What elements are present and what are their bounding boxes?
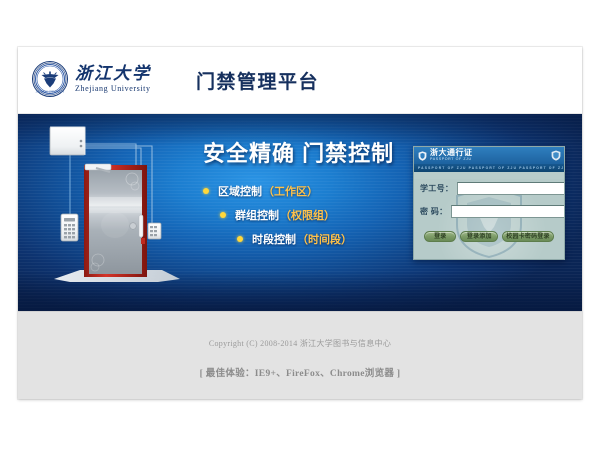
screenshot-canvas: ZHEJIANG UNIVERSITY 浙江大学 Zhejiang Univer… [0,0,600,450]
list-item: 区域控制 （工作区） [203,183,428,199]
form-row-username: 学工号： [414,179,564,197]
university-logo[interactable]: ZHEJIANG UNIVERSITY 浙江大学 Zhejiang Univer… [32,61,151,97]
list-item: 群组控制 （权限组） [203,207,428,223]
copyright-text: Copyright (C) 2008-2014 浙江大学图书与信息中心 [209,338,391,349]
hero-slogan: 安全精确 门禁控制 [203,136,428,168]
login-brand: 浙大通行证 PASSPORT OF ZJU [430,149,473,162]
login-button-group: 登录 登录添加 校园卡密码登录 [414,231,564,242]
hero-banner: 安全精确 门禁控制 区域控制 （工作区） 群组控制 （权限组） 时段控制 [18,114,582,311]
password-input[interactable] [451,205,565,218]
feature-label: 区域控制 [218,183,262,199]
bullet-dot-icon [220,212,226,218]
university-name-cn: 浙江大学 [75,65,151,82]
university-wordmark: 浙江大学 Zhejiang University [75,65,151,93]
username-label: 学工号： [420,183,453,194]
password-label: 密 码： [420,206,447,217]
access-control-door-illustration [40,122,195,304]
page-header: ZHEJIANG UNIVERSITY 浙江大学 Zhejiang Univer… [18,47,582,114]
hero-slogan-block: 安全精确 门禁控制 区域控制 （工作区） 群组控制 （权限组） 时段控制 [203,136,428,255]
university-name-en: Zhejiang University [75,85,151,93]
login-brand-cn: 浙大通行证 [430,149,473,157]
hero-feature-list: 区域控制 （工作区） 群组控制 （权限组） 时段控制 （时间段） [203,183,428,247]
login-add-button[interactable]: 登录添加 [460,231,498,242]
bullet-dot-icon [237,236,243,242]
shield-icon [418,151,427,161]
username-input[interactable] [457,182,565,195]
login-button[interactable]: 登录 [424,231,456,242]
campus-card-password-login-button[interactable]: 校园卡密码登录 [502,231,553,242]
site-window: ZHEJIANG UNIVERSITY 浙江大学 Zhejiang Univer… [18,47,582,399]
login-form: 学工号： 密 码： 登录 登录添加 校园卡密码登录 [414,179,564,260]
shield-badge-icon [551,150,561,161]
page-footer: Copyright (C) 2008-2014 浙江大学图书与信息中心 [ 最佳… [18,311,582,399]
feature-label: 时段控制 [252,231,296,247]
feature-paren: （时间段） [297,231,352,247]
svg-text:ZHEJIANG UNIVERSITY: ZHEJIANG UNIVERSITY [36,91,65,94]
browser-compatibility-note: [ 最佳体验：IE9+、FireFox、Chrome浏览器 ] [200,365,401,379]
passport-strip-text: PASSPORT OF ZJU PASSPORT OF ZJU PASSPORT… [414,166,564,170]
zju-seal-icon: ZHEJIANG UNIVERSITY [32,61,68,97]
feature-paren: （权限组） [280,207,335,223]
login-panel: 浙大通行证 PASSPORT OF ZJU PASSPORT OF ZJU PA… [413,146,565,260]
feature-paren: （工作区） [263,183,318,199]
passport-strip: PASSPORT OF ZJU PASSPORT OF ZJU PASSPORT… [414,164,564,172]
login-panel-titlebar: 浙大通行证 PASSPORT OF ZJU [414,147,564,164]
page-title: 门禁管理平台 [196,47,319,113]
feature-label: 群组控制 [235,207,279,223]
login-brand-en: PASSPORT OF ZJU [430,158,473,161]
list-item: 时段控制 （时间段） [203,231,428,247]
bullet-dot-icon [203,188,209,194]
form-row-password: 密 码： [414,202,564,220]
